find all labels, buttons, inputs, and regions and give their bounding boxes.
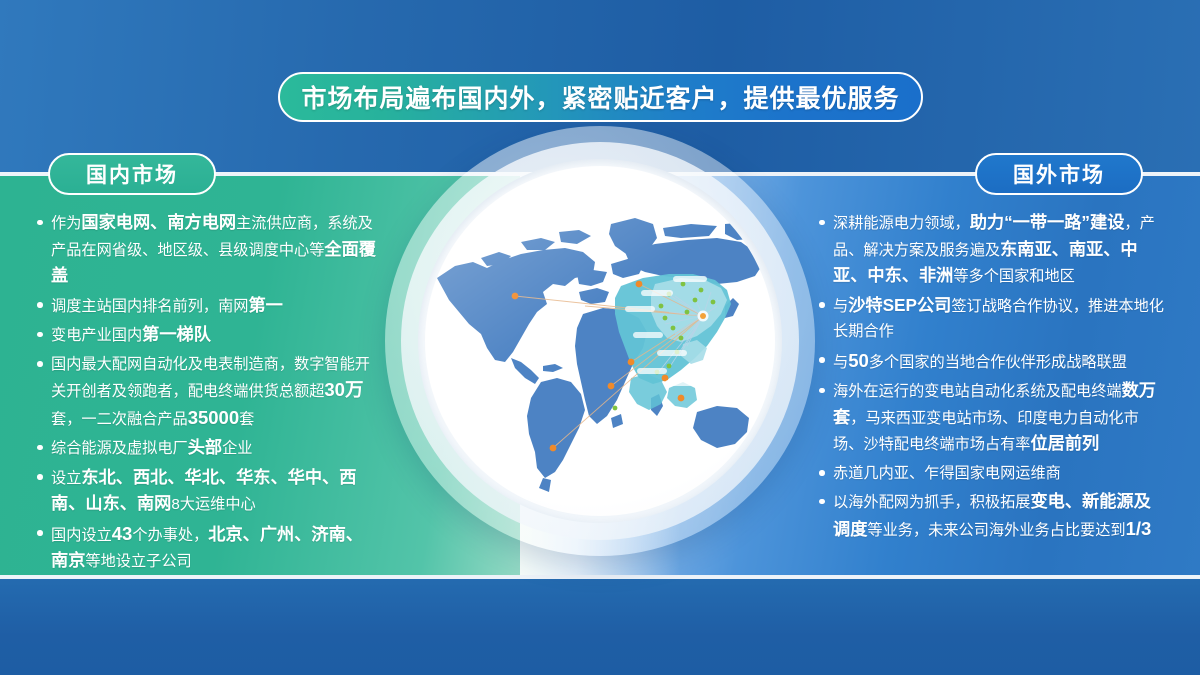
list-item-text: 国内最大配网自动化及电表制造商，数字智能开关开创者及领跑者，配电终端供货总额超	[51, 356, 370, 401]
list-item-text: 综合能源及虚拟电厂	[51, 440, 188, 457]
list-item-text: 国家电网、南方电网	[81, 212, 236, 232]
list-item-text: 35000	[188, 407, 239, 428]
domestic-section-badge: 国内市场	[48, 153, 216, 195]
list-item-text: 8大运维中心	[171, 496, 255, 513]
list-item-text: 等地设立子公司	[85, 553, 191, 570]
map-hub-marker	[698, 311, 709, 322]
list-item-text: 沙特SEP公司	[848, 295, 951, 315]
list-item-text: 50	[848, 350, 869, 371]
list-item: 国内设立43个办事处，北京、广州、济南、南京等地设立子公司	[36, 521, 376, 575]
overseas-section-badge: 国外市场	[975, 153, 1143, 195]
list-item: 作为国家电网、南方电网主流供应商，系统及产品在网省级、地区级、县级调度中心等全面…	[36, 210, 376, 290]
list-item-text: 30万	[324, 379, 363, 400]
list-item-text: 与	[833, 354, 848, 371]
domestic-bullet-list: 作为国家电网、南方电网主流供应商，系统及产品在网省级、地区级、县级调度中心等全面…	[36, 210, 376, 575]
list-item-text: 与	[833, 298, 848, 315]
list-item-text: 第一梯队	[142, 324, 211, 344]
list-item-text: 个办事处，	[132, 527, 208, 544]
globe-graphic	[385, 126, 815, 586]
list-item-text: 深耕能源电力领域，	[833, 215, 970, 232]
list-item-text: 等多个国家和地区	[953, 268, 1075, 285]
list-item-text: 国内设立	[51, 527, 112, 544]
domestic-content-column: 作为国家电网、南方电网主流供应商，系统及产品在网省级、地区级、县级调度中心等全面…	[36, 210, 376, 578]
map-continents	[437, 218, 771, 492]
list-item-text: 调度主站国内排名前列，南网	[51, 298, 248, 315]
list-item-text: 等业务，未来公司海外业务占比要达到	[867, 522, 1125, 539]
list-item: 与沙特SEP公司签订战略合作协议，推进本地化长期合作	[818, 293, 1166, 345]
list-item: 综合能源及虚拟电厂头部企业	[36, 435, 376, 462]
slide-root: 市场布局遍布国内外，紧密贴近客户，提供最优服务 国内市场 国外市场 作为国家电网…	[0, 0, 1200, 675]
list-item-text: 套	[239, 411, 254, 428]
list-item-text: 赤道几内亚、乍得国家电网运维商	[833, 465, 1061, 482]
list-item-text: 海外在运行的变电站自动化系统及配电终端	[833, 383, 1122, 400]
overseas-content-column: 深耕能源电力领域，助力“一带一路”建设，产品、解决方案及服务遍及东南亚、南亚、中…	[818, 210, 1166, 546]
list-item: 海外在运行的变电站自动化系统及配电终端数万套，马来西亚变电站市场、印度电力自动化…	[818, 378, 1166, 458]
world-map-canvas	[425, 166, 775, 516]
list-item-text: 多个国家的当地合作伙伴形成战略联盟	[869, 354, 1127, 371]
list-item-text: 第一	[248, 295, 282, 315]
domestic-badge-label: 国内市场	[86, 159, 178, 189]
list-item-text: 头部	[188, 437, 222, 457]
list-item-text: 设立	[51, 470, 81, 487]
list-item-text: 变电产业国内	[51, 327, 142, 344]
list-item: 设立东北、西北、华北、华东、华中、西南、山东、南网8大运维中心	[36, 465, 376, 518]
list-item: 深耕能源电力领域，助力“一带一路”建设，产品、解决方案及服务遍及东南亚、南亚、中…	[818, 210, 1166, 290]
list-item: 调度主站国内排名前列，南网第一	[36, 293, 376, 320]
list-item-text: 作为	[51, 215, 81, 232]
list-item: 以海外配网为抓手，积极拓展变电、新能源及调度等业务，未来公司海外业务占比要达到1…	[818, 489, 1166, 543]
list-item-text: 以海外配网为抓手，积极拓展	[833, 494, 1030, 511]
overseas-badge-label: 国外市场	[1013, 159, 1105, 189]
background-bottom-band	[0, 578, 1200, 675]
list-item: 与50多个国家的当地合作伙伴形成战略联盟	[818, 348, 1166, 376]
list-item-text: 43	[112, 523, 133, 544]
list-item-text: 位居前列	[1030, 433, 1099, 453]
list-item-text: 助力“一带一路”建设	[970, 212, 1125, 232]
overseas-bullet-list: 深耕能源电力领域，助力“一带一路”建设，产品、解决方案及服务遍及东南亚、南亚、中…	[818, 210, 1166, 543]
list-item: 国内最大配网自动化及电表制造商，数字智能开关开创者及领跑者，配电终端供货总额超3…	[36, 352, 376, 433]
page-title: 市场布局遍布国内外，紧密贴近客户，提供最优服务	[301, 79, 899, 115]
list-item: 变电产业国内第一梯队	[36, 322, 376, 349]
list-item-text: 套，一二次融合产品	[51, 411, 188, 428]
slide-title-pill: 市场布局遍布国内外，紧密贴近客户，提供最优服务	[278, 72, 923, 122]
list-item-text: 企业	[222, 440, 252, 457]
list-item: 赤道几内亚、乍得国家电网运维商	[818, 461, 1166, 487]
list-item-text: 1/3	[1126, 518, 1152, 539]
